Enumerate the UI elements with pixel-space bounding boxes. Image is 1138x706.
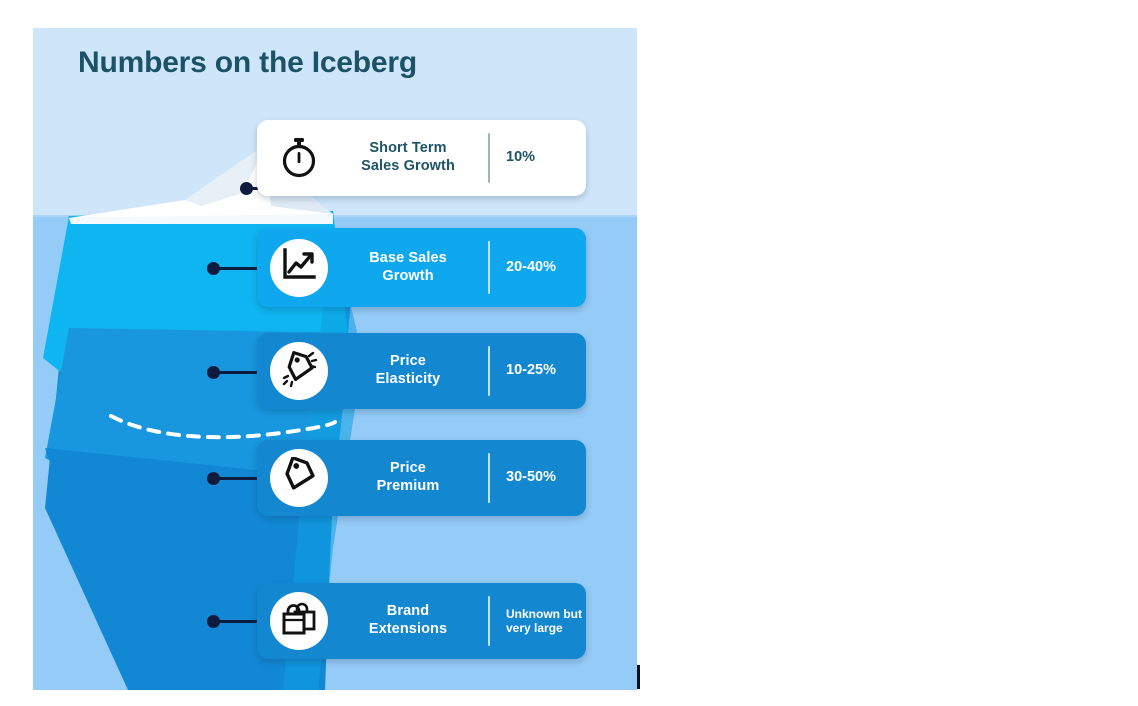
metric-label-line2: Elasticity [334,371,482,389]
metric-value-line1: 10% [506,149,586,166]
metric-label-line2: Premium [334,478,482,496]
metric-value: 10% [490,149,586,166]
icon-slot [270,592,328,650]
connector-line-5 [213,620,261,623]
metric-card-base-sales-growth[interactable]: Base Sales Growth 20-40% [257,228,586,307]
metric-card-price-premium[interactable]: Price Premium 30-50% [257,440,586,516]
page-title: Numbers on the Iceberg [78,46,417,80]
metric-label: Price Premium [328,460,488,495]
metric-card-short-term-sales-growth[interactable]: Short Term Sales Growth 10% [257,120,586,196]
price-tag-elastic-icon [280,350,318,393]
icon-badge [270,592,328,650]
metric-label-line1: Price [334,353,482,371]
metric-card-brand-extensions[interactable]: Brand Extensions Unknown but very large [257,583,586,659]
metric-value-line1: 20-40% [506,259,586,276]
icon-slot [270,239,328,297]
metric-label-line2: Extensions [334,621,482,639]
stopwatch-icon [270,129,328,187]
metric-value: Unknown but very large [490,607,586,636]
connector-line-2 [213,267,261,270]
infographic-canvas: Numbers on the Iceberg Short Term Sales … [33,28,637,690]
metric-value-line2: very large [506,621,586,635]
metric-label-line1: Brand [334,603,482,621]
metric-label-line1: Price [334,460,482,478]
metric-value-line1: 10-25% [506,362,586,379]
metric-label: Brand Extensions [328,603,488,638]
metric-label-line1: Base Sales [334,250,482,268]
metric-value: 10-25% [490,362,586,379]
icon-badge [270,342,328,400]
icon-slot [270,342,328,400]
shopping-bags-icon [280,601,318,642]
line-chart-growth-icon [281,248,317,287]
text-cursor [637,665,640,689]
metric-label-line1: Short Term [334,140,482,158]
icon-slot [270,129,328,187]
icon-slot [270,449,328,507]
connector-line-3 [213,371,261,374]
metric-value: 30-50% [490,469,586,486]
connector-line-4 [213,477,261,480]
icon-badge [270,239,328,297]
metric-label: Base Sales Growth [328,250,488,285]
metric-value: 20-40% [490,259,586,276]
metric-card-price-elasticity[interactable]: Price Elasticity 10-25% [257,333,586,409]
price-tag-icon [280,457,318,500]
metric-value-line1: 30-50% [506,469,586,486]
metric-label: Short Term Sales Growth [328,140,488,175]
metric-label-line2: Sales Growth [334,158,482,176]
metric-value-line1: Unknown but [506,607,586,621]
icon-badge [270,449,328,507]
metric-label: Price Elasticity [328,353,488,388]
metric-label-line2: Growth [334,268,482,286]
